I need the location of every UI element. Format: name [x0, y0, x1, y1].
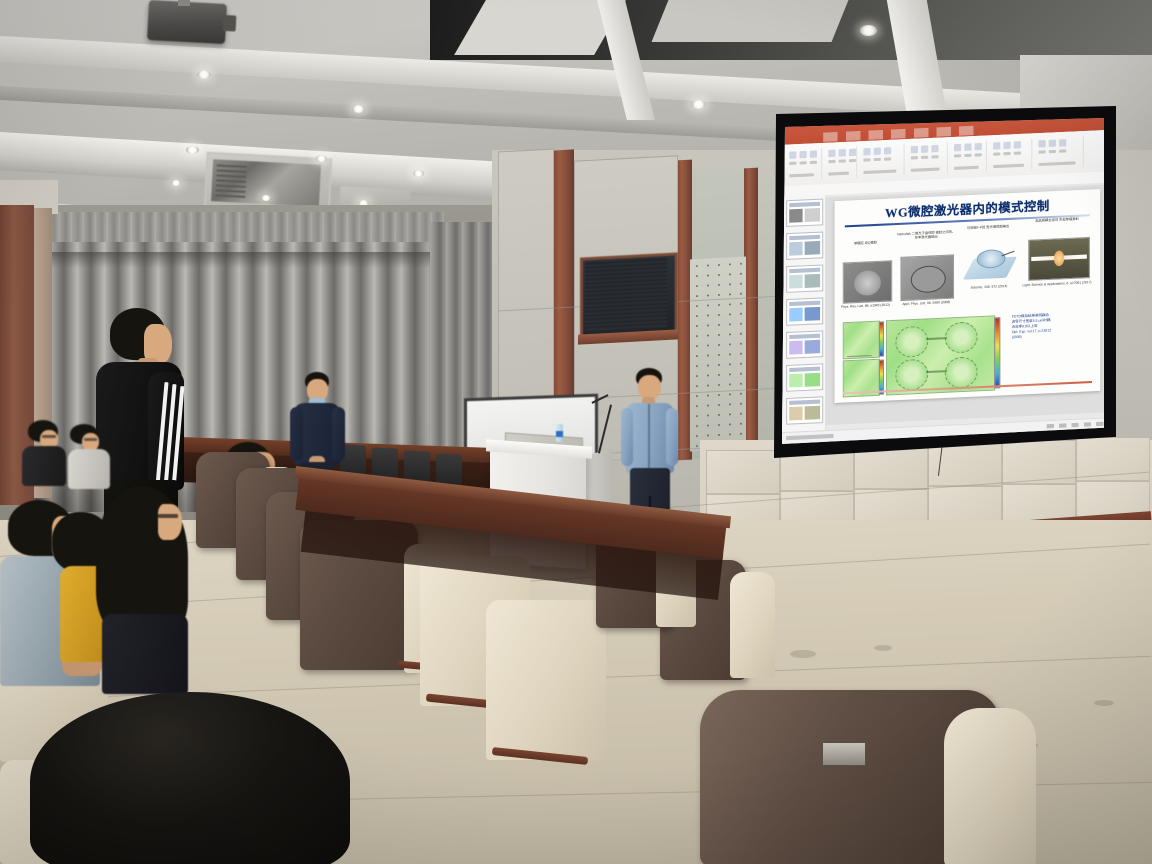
thumb-img-a-6: [789, 406, 802, 420]
marble-block-0-0: [706, 450, 780, 494]
back-a-glasses-icon: [42, 435, 56, 438]
ac-slat-6: [215, 194, 245, 198]
ribbon-icon-1-2[interactable]: [849, 149, 856, 157]
ribbon-icon-4-1[interactable]: [964, 143, 971, 151]
thumb-title-5: [789, 367, 820, 373]
ac-slat-5: [215, 189, 245, 193]
ribbon-icon-1-0[interactable]: [828, 150, 835, 158]
downlight-3: [691, 100, 706, 109]
person-attendee-longhair: [96, 486, 216, 696]
downlight-7: [413, 170, 424, 177]
ribbon-icon-5-0[interactable]: [993, 142, 1000, 150]
slide-caption-2: 可调谐F-P腔 宽光谱范围输出: [964, 224, 1011, 230]
thumb-img-a-5: [789, 374, 802, 388]
slide-reference-3: Light: Science & Applications, 6, e17061…: [1022, 280, 1092, 287]
thumb-img-b-3: [805, 307, 820, 321]
ribbon-icon-0-0[interactable]: [789, 151, 796, 159]
curtain-fold-shadow: [24, 252, 444, 268]
ribbon-label-0-1: [800, 161, 807, 164]
slide-thumbnail-5[interactable]: [786, 363, 823, 391]
ribbon-label-5-2: [1014, 151, 1021, 154]
ribbon-label-6-1: [1049, 150, 1056, 153]
ribbon-label-3-0: [911, 156, 918, 159]
ribbon-group-4[interactable]: [951, 141, 987, 174]
ribbon-icon-3-0[interactable]: [911, 146, 918, 154]
downlight-8: [261, 195, 271, 201]
ribbon-label-0-2: [810, 161, 817, 164]
downlight-1: [197, 70, 211, 79]
powerpoint-window[interactable]: WG微腔激光器内的模式控制 单模腔 高Q微腔 Phys. Rev. Lett. …: [782, 118, 1104, 444]
slide-editing-area[interactable]: WG微腔激光器内的模式控制 单模腔 高Q微腔 Phys. Rev. Lett. …: [825, 184, 1104, 425]
ribbon-icon-5-1[interactable]: [1003, 142, 1010, 150]
thumb-title-0: [789, 202, 820, 208]
ribbon-group-6[interactable]: [1035, 136, 1083, 169]
ribbon-label-1-0: [828, 160, 835, 163]
person-back-b: [66, 424, 112, 486]
ribbon-group-title-6: [1038, 161, 1075, 166]
floor-mark-1: [790, 650, 816, 658]
thumb-title-6: [789, 400, 820, 406]
ribbon-group-5[interactable]: [990, 139, 1032, 172]
slide-thumbnail-1[interactable]: [786, 231, 823, 259]
ribbon-label-1-2: [849, 159, 856, 162]
ribbon-label-0-0: [789, 162, 796, 165]
thumb-img-b-0: [805, 208, 820, 222]
seat-cushion-right-1: [486, 600, 606, 760]
ribbon-icon-1-1[interactable]: [839, 149, 846, 157]
fdtd-colorbar-main: [994, 317, 1000, 388]
ribbon-label-6-2: [1059, 149, 1066, 152]
floor-mark-2: [874, 645, 892, 651]
ribbon-group-title-3: [911, 167, 940, 171]
projector-mount: [178, 0, 190, 6]
fdtd-microring-2: [895, 359, 928, 391]
thumb-img-b-6: [805, 406, 820, 420]
ribbon-label-4-0: [954, 154, 961, 157]
ac-slat-4: [216, 184, 246, 188]
fdtd-microring-3: [945, 356, 978, 388]
slide-figure-0: [843, 260, 892, 303]
thumb-img-b-1: [805, 241, 820, 255]
wall-wood-column-2: [744, 168, 758, 454]
thumb-img-a-0: [789, 209, 802, 223]
longhair-face: [158, 504, 182, 540]
downlight-4: [186, 146, 199, 154]
ribbon-group-title-1: [828, 172, 849, 176]
slide-thumbnail-4[interactable]: [786, 330, 823, 358]
ribbon-group-0[interactable]: [786, 148, 822, 181]
ribbon-icon-6-2[interactable]: [1059, 139, 1066, 147]
perforated-acoustic-panel: [690, 257, 746, 452]
ribbon-icon-5-2[interactable]: [1014, 141, 1021, 149]
fdtd-colorbar-tl: [879, 321, 884, 356]
floor-mark-4: [1094, 700, 1114, 706]
ribbon-icon-4-0[interactable]: [954, 144, 961, 152]
speaker-arm-left: [621, 408, 633, 466]
thumb-title-4: [789, 334, 820, 340]
ac-slat-3: [216, 179, 246, 183]
ribbon-icon-2-2[interactable]: [884, 147, 891, 155]
ribbon-icon-3-1[interactable]: [921, 145, 928, 153]
downlight-5: [171, 180, 181, 186]
fdtd-waveguide-0: [926, 337, 947, 340]
slide-fdtd-figure: [843, 315, 1008, 397]
ribbon-label-4-2: [975, 153, 982, 156]
thumb-img-b-2: [805, 274, 820, 288]
thumb-img-a-2: [789, 275, 802, 289]
ac-slat-1: [217, 169, 247, 173]
person-foreground-head: [30, 692, 360, 864]
ac-slat-2: [216, 174, 246, 178]
back-b-glasses-icon: [84, 438, 97, 441]
seat-cushion-mid-0: [730, 572, 775, 678]
back-b-shirt: [68, 449, 110, 489]
ribbon-icon-2-0[interactable]: [863, 148, 870, 156]
longhair-top: [102, 614, 188, 694]
water-bottle-label: [556, 431, 563, 437]
fdtd-waveguide-1: [926, 370, 947, 373]
slide-figure-1: [900, 254, 954, 301]
downlight-6: [316, 155, 327, 162]
thumb-img-b-5: [805, 373, 820, 387]
ribbon-label-2-2: [884, 157, 891, 160]
ceiling-facet-b: [652, 0, 849, 42]
thumb-title-3: [789, 301, 820, 307]
downlight-2: [352, 105, 365, 113]
thumb-img-a-3: [789, 308, 802, 322]
downlight-0: [860, 25, 877, 36]
foreground-seat[interactable]: [700, 690, 1040, 864]
ribbon-icon-4-2[interactable]: [975, 143, 982, 151]
current-slide[interactable]: WG微腔激光器内的模式控制 单模腔 高Q微腔 Phys. Rev. Lett. …: [835, 189, 1101, 403]
foreground-seat-cushion: [944, 708, 1036, 864]
ribbon-label-2-0: [863, 158, 870, 161]
back-a-jacket: [22, 446, 66, 486]
ribbon-icon-0-1[interactable]: [800, 151, 807, 159]
thumb-img-b-4: [805, 340, 820, 354]
projection-screen[interactable]: WG微腔激光器内的模式控制 单模腔 高Q微腔 Phys. Rev. Lett. …: [782, 118, 1104, 444]
slide-thumbnail-3[interactable]: [786, 297, 823, 325]
thumb-title-2: [789, 268, 820, 274]
ribbon-group-title-4: [954, 166, 979, 170]
foreground-seat-plate: [822, 742, 866, 766]
slide-thumbnail-6[interactable]: [786, 396, 823, 424]
status-view-controls[interactable]: [1047, 421, 1104, 428]
lecture-hall-photo: WG微腔激光器内的模式控制 单模腔 高Q微腔 Phys. Rev. Lett. …: [0, 0, 1152, 864]
thumb-title-1: [789, 235, 820, 241]
ribbon-group-title-0: [789, 173, 814, 177]
speaker-shirt-placket: [648, 404, 650, 470]
slide-figure-3: [1028, 237, 1090, 281]
powerpoint-workspace: WG微腔激光器内的模式控制 单模腔 高Q微腔 Phys. Rev. Lett. …: [782, 182, 1104, 433]
fdtd-microring-0: [895, 326, 928, 358]
ribbon-label-6-0: [1038, 150, 1045, 153]
ribbon-label-5-0: [993, 152, 1000, 155]
foreground-hair: [30, 692, 350, 864]
slide-thumbnail-0[interactable]: [786, 199, 823, 227]
fdtd-panel-main: [886, 315, 995, 395]
ribbon-icon-2-1[interactable]: [874, 147, 881, 155]
fdtd-panel-tl: [843, 321, 880, 360]
ac-slat-0: [217, 164, 247, 168]
speaker-arm-right: [666, 408, 678, 466]
speaker-grille: [585, 258, 667, 332]
ribbon-group-1[interactable]: [825, 147, 857, 179]
ribbon-label-3-2: [931, 155, 938, 158]
curtain-header: [24, 212, 444, 242]
ribbon-label-1-1: [839, 159, 846, 162]
ribbon-label-5-1: [1003, 152, 1010, 155]
slide-caption-0: 单模腔 高Q微腔: [841, 240, 890, 246]
slide-reference-2: Science, 346, 972 (2014): [962, 284, 1016, 291]
fdtd-microring-1: [945, 321, 978, 353]
slide-body-note: FDTD模拟结果表明耦合波导尺寸宽度4.5 μm时耦合效率0.8以上高Opt. …: [1012, 311, 1094, 341]
ribbon-icon-6-0[interactable]: [1038, 140, 1045, 148]
longhair-glasses-icon: [158, 514, 178, 518]
slide-thumbnail-pane[interactable]: [782, 195, 826, 433]
slide-thumbnail-2[interactable]: [786, 264, 823, 292]
status-slide-indicator: [786, 434, 833, 440]
ribbon-icon-6-1[interactable]: [1049, 140, 1056, 148]
ribbon-group-title-5: [993, 164, 1024, 168]
person-back-a: [22, 420, 68, 484]
slide-caption-1: Nanodisk 二维光子晶体腔 微腔之间的、效率激光器输出: [896, 230, 956, 241]
ribbon-group-title-2: [863, 169, 896, 174]
ribbon-label-3-1: [921, 156, 928, 159]
standing-mid-arm-right: [332, 407, 345, 461]
ribbon-icon-0-2[interactable]: [810, 150, 817, 158]
ribbon-label-2-1: [874, 158, 881, 161]
slide-figure-2: [964, 244, 1016, 283]
thumb-img-a-1: [789, 242, 802, 256]
ribbon-icon-3-2[interactable]: [931, 145, 938, 153]
ribbon-label-4-1: [964, 154, 971, 157]
ribbon-group-3[interactable]: [908, 142, 948, 175]
ribbon-group-2[interactable]: [860, 144, 904, 177]
thumb-img-a-4: [789, 341, 802, 355]
projector-icon: [147, 0, 227, 44]
